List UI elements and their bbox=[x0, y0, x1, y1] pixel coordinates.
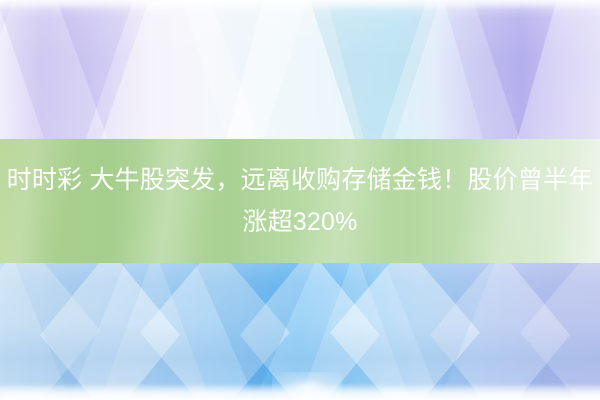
facet-bottom-diamond-1 bbox=[0, 240, 100, 400]
facet-bottom-wedge-1 bbox=[10, 250, 130, 400]
promo-banner: 时时彩 大牛股突发，远离收购存储金钱！股价曾半年涨超320% bbox=[0, 0, 600, 400]
bottom-fade bbox=[0, 384, 600, 400]
headline-container: 时时彩 大牛股突发，远离收购存储金钱！股价曾半年涨超320% bbox=[0, 139, 600, 263]
background-top-shade bbox=[0, 0, 600, 150]
facet-bottom-diamond-2 bbox=[40, 250, 180, 400]
facet-bottom-diamond-5 bbox=[330, 245, 480, 400]
background-top-wash bbox=[0, 0, 600, 150]
facet-bottom-wedge-4 bbox=[100, 250, 210, 400]
facet-bottom-diamond-7 bbox=[520, 245, 600, 400]
top-fade bbox=[0, 0, 600, 10]
facet-bottom-diamond-3 bbox=[140, 245, 290, 400]
facet-bottom-wedge-3 bbox=[380, 250, 500, 400]
headline-text: 时时彩 大牛股突发，远离收购存储金钱！股价曾半年涨超320% bbox=[6, 159, 594, 243]
facet-bottom-diamond-6 bbox=[430, 250, 570, 400]
